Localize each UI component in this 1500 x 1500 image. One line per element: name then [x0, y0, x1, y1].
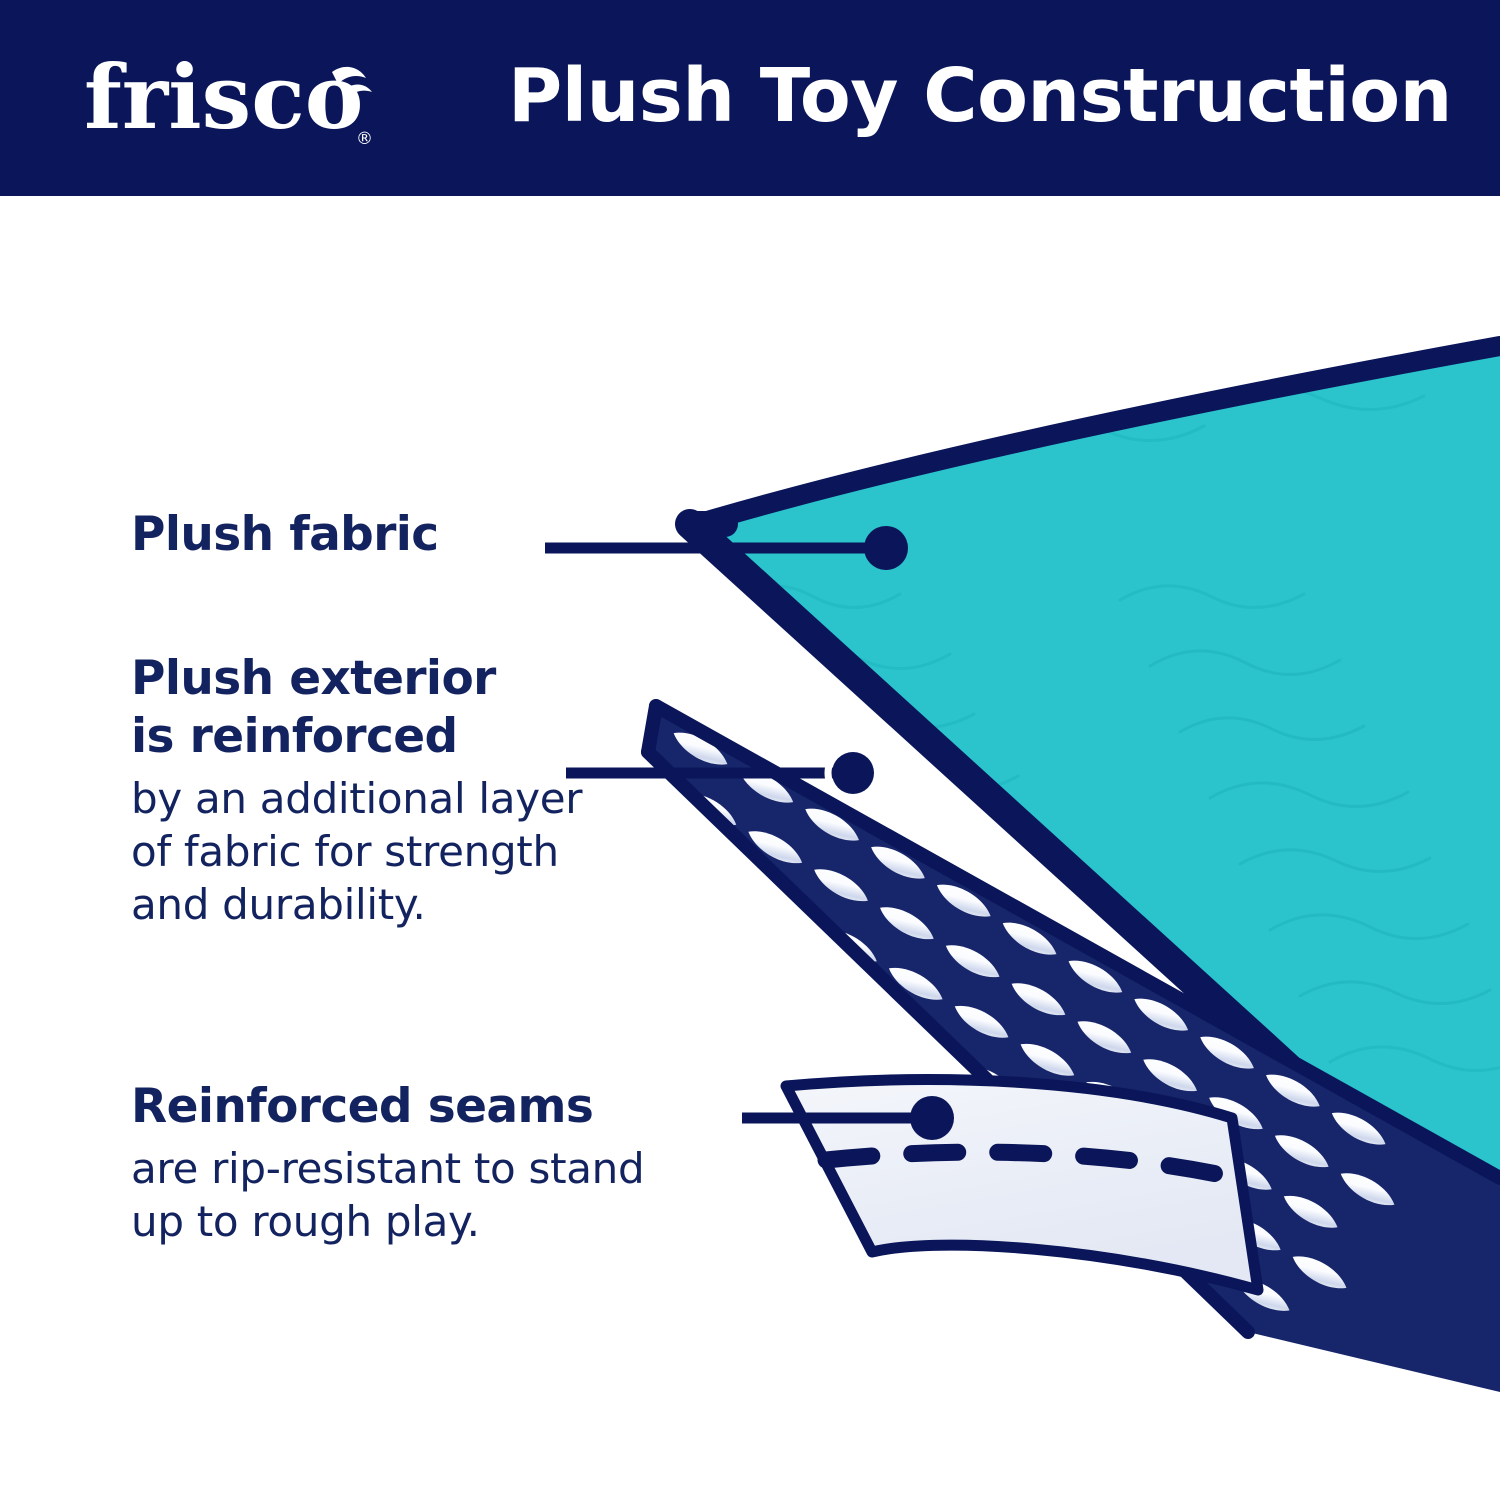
mesh-left-tip — [648, 706, 656, 752]
label-block-plush-fabric: Plush fabric — [131, 506, 439, 564]
leader-dot-reinforced-seams — [910, 1096, 954, 1140]
label-heading-plush-fabric: Plush fabric — [131, 506, 439, 564]
page-title: Plush Toy Construction — [508, 48, 1452, 144]
label-block-reinforced-seams: Reinforced seams are rip-resistant to st… — [131, 1078, 644, 1248]
leader-dot-plush-exterior — [832, 752, 874, 794]
label-heading-plush-exterior: Plush exterior is reinforced — [131, 650, 582, 766]
label-heading-reinforced-seams: Reinforced seams — [131, 1078, 644, 1136]
registered-mark: ® — [356, 129, 373, 149]
header-bar: frisco ® Plush Toy Construction — [0, 0, 1500, 196]
frisco-logo: frisco ® — [84, 44, 384, 154]
label-body-plush-exterior: by an additional layer of fabric for str… — [131, 772, 582, 931]
label-block-plush-exterior: Plush exterior is reinforced by an addit… — [131, 650, 582, 931]
frisco-wordmark: frisco — [84, 45, 363, 149]
infographic-page: frisco ® Plush Toy Construction — [0, 0, 1500, 1500]
reinforced-seam-flap — [786, 1080, 1258, 1290]
leader-dot-plush-fabric — [864, 526, 908, 570]
seam-flap-shape — [786, 1080, 1258, 1290]
label-body-reinforced-seams: are rip-resistant to stand up to rough p… — [131, 1142, 644, 1248]
